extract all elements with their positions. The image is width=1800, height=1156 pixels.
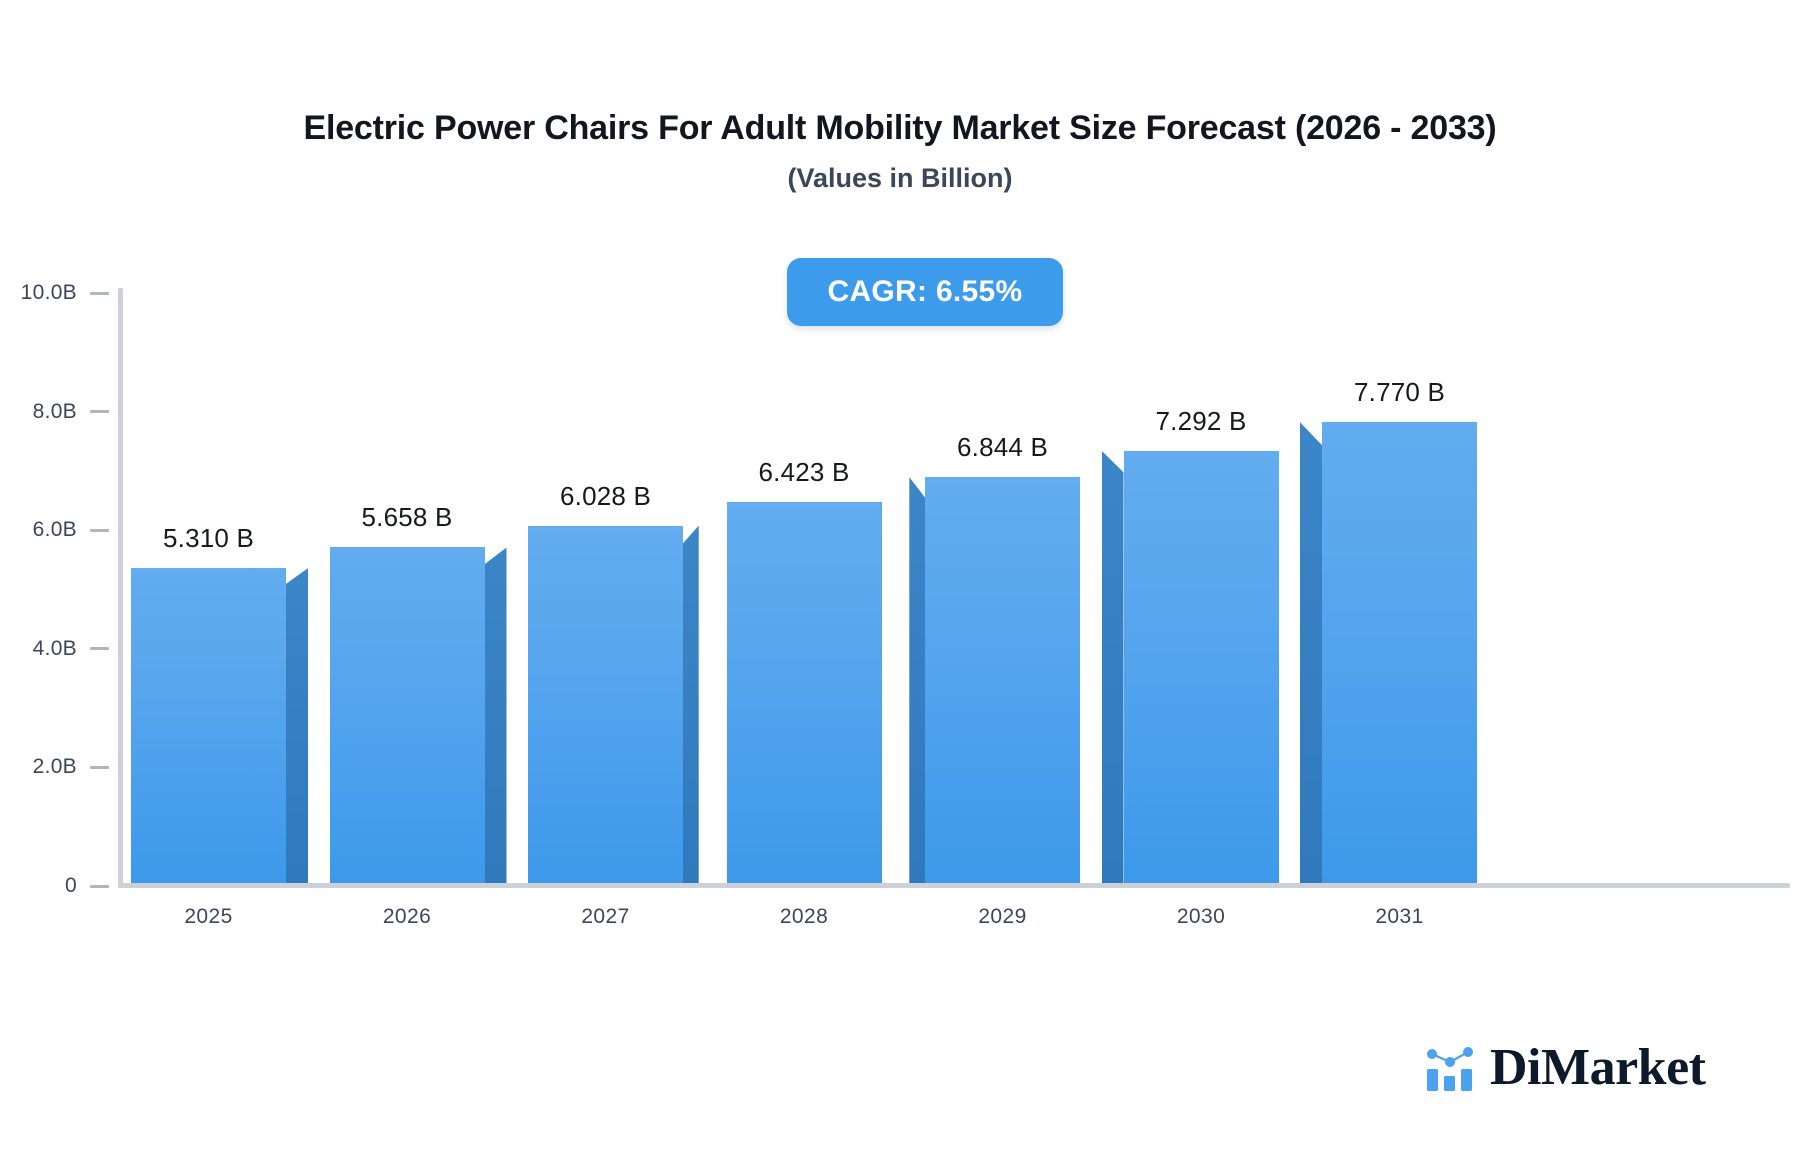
bar-face: [727, 502, 882, 883]
brand-name: DiMarket: [1490, 1042, 1705, 1094]
bar-face: [330, 547, 485, 883]
y-axis-tick: 4.0B: [33, 637, 118, 661]
bar-series: 5.310 B20255.658 B20266.028 B20276.423 B…: [118, 290, 1790, 883]
bar-side-face: [683, 526, 699, 883]
x-axis-tick-label: 2030: [1177, 905, 1225, 929]
y-axis-tick: 0: [65, 874, 118, 898]
bar-face: [1322, 422, 1477, 883]
bar-value-label: 7.292 B: [1155, 406, 1246, 437]
chart-container: Electric Power Chairs For Adult Mobility…: [0, 0, 1800, 1156]
y-axis-tick-label: 0: [65, 874, 77, 898]
bar-value-label: 5.658 B: [361, 502, 452, 533]
plot-area: 02.0B4.0B6.0B8.0B10.0B 5.310 B20255.658 …: [118, 288, 1790, 888]
y-axis-tick: 10.0B: [21, 281, 118, 305]
y-axis-tick-label: 6.0B: [33, 518, 77, 542]
bar-value-label: 7.770 B: [1354, 377, 1445, 408]
bar-value-label: 5.310 B: [163, 523, 254, 554]
y-axis-tick-label: 2.0B: [33, 755, 77, 779]
x-axis-tick-label: 2029: [978, 905, 1026, 929]
bar-side-face: [1300, 422, 1322, 883]
page-title: Electric Power Chairs For Adult Mobility…: [0, 108, 1800, 149]
y-axis-tick-mark: [90, 529, 109, 532]
y-axis-tick-label: 4.0B: [33, 637, 77, 661]
bar-column[interactable]: 5.310 B2025: [131, 568, 286, 883]
y-axis-tick-mark: [90, 885, 109, 888]
bar-value-label: 6.844 B: [957, 432, 1048, 463]
y-axis-tick-mark: [90, 647, 109, 650]
x-axis-line: [118, 883, 1790, 888]
bar-column[interactable]: 6.028 B2027: [528, 526, 683, 883]
x-axis-tick-label: 2028: [780, 905, 828, 929]
bar-side-face: [909, 477, 925, 883]
x-axis-tick-label: 2027: [581, 905, 629, 929]
bar-value-label: 6.423 B: [758, 457, 849, 488]
y-axis-tick-label: 8.0B: [33, 400, 77, 424]
bar-face: [1124, 451, 1279, 883]
x-axis-tick-label: 2025: [184, 905, 232, 929]
y-axis-tick-mark: [90, 766, 109, 769]
bar-face: [925, 477, 1080, 883]
y-axis-tick-mark: [90, 410, 109, 413]
y-axis-tick-label: 10.0B: [21, 281, 77, 305]
bar-face: [131, 568, 286, 883]
bar-column[interactable]: 6.844 B2029: [925, 477, 1080, 883]
bar-column[interactable]: 7.292 B2030: [1124, 451, 1279, 883]
bar-column[interactable]: 6.423 B2028: [727, 502, 882, 883]
y-axis-tick-mark: [90, 292, 109, 295]
bar-face: [528, 526, 683, 883]
bar-column[interactable]: 5.658 B2026: [330, 547, 485, 883]
chart-subtitle: (Values in Billion): [0, 163, 1800, 194]
title-block: Electric Power Chairs For Adult Mobility…: [0, 108, 1800, 194]
bar-side-face: [286, 568, 308, 883]
bar-side-face: [1102, 451, 1124, 883]
y-axis-tick: 6.0B: [33, 518, 118, 542]
bar-chart-icon: [1424, 1043, 1476, 1093]
bar-value-label: 6.028 B: [560, 481, 651, 512]
brand-logo: DiMarket: [1424, 1042, 1705, 1094]
y-axis-tick: 2.0B: [33, 755, 118, 779]
x-axis-tick-label: 2026: [383, 905, 431, 929]
y-axis-tick: 8.0B: [33, 400, 118, 424]
bar-side-face: [485, 547, 507, 883]
x-axis-tick-label: 2031: [1375, 905, 1423, 929]
bar-column[interactable]: 7.770 B2031: [1322, 422, 1477, 883]
